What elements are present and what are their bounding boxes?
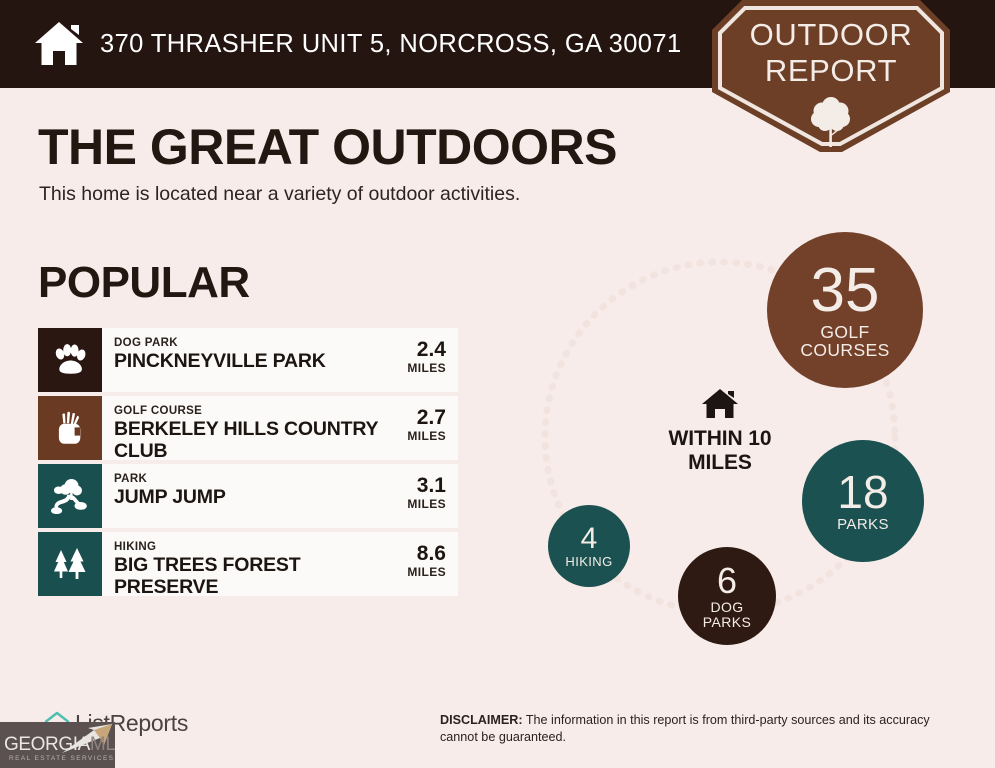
property-address: 370 THRASHER UNIT 5, NORCROSS, GA 30071	[100, 30, 682, 59]
list-item-distance: 2.4 MILES	[396, 328, 458, 392]
distance-value: 3.1	[396, 474, 446, 497]
bubble-value: 35	[811, 260, 880, 322]
list-item[interactable]: PARK JUMP JUMP 3.1 MILES	[38, 464, 458, 528]
watermark-brand: GEORGIAMLS	[4, 734, 115, 756]
bubble-label: PARKS	[837, 517, 889, 532]
within-10-miles-bubble-chart: 35 GOLF COURSES 18 PARKS 6 DOG PARKS 4 H…	[515, 222, 995, 662]
paw-icon	[38, 328, 102, 392]
tree-icon	[808, 97, 854, 147]
list-item-text: DOG PARK PINCKNEYVILLE PARK	[102, 328, 396, 392]
list-item-name: BERKELEY HILLS COUNTRY CLUB	[114, 418, 396, 462]
bubble-parks[interactable]: 18 PARKS	[802, 440, 924, 562]
badge-line-2: REPORT	[712, 53, 950, 89]
distance-unit: MILES	[396, 497, 446, 511]
bubble-label-line-2: PARKS	[703, 615, 751, 629]
list-item-category: DOG PARK	[114, 337, 396, 350]
list-item-text: GOLF COURSE BERKELEY HILLS COUNTRY CLUB	[102, 396, 396, 460]
watermark-tagline: REAL ESTATE SERVICES	[9, 755, 114, 762]
georgiamls-watermark: GEORGIAMLS REAL ESTATE SERVICES	[0, 722, 115, 768]
list-item-distance: 8.6 MILES	[396, 532, 458, 596]
watermark-mls: MLS	[90, 734, 115, 755]
badge-title: OUTDOOR REPORT	[712, 17, 950, 89]
distance-value: 2.7	[396, 406, 446, 429]
pine-trees-icon	[38, 532, 102, 596]
home-icon	[645, 387, 795, 421]
distance-unit: MILES	[396, 361, 446, 375]
list-item[interactable]: HIKING BIG TREES FOREST PRESERVE 8.6 MIL…	[38, 532, 458, 596]
section-heading-popular: POPULAR	[38, 258, 250, 308]
distance-value: 2.4	[396, 338, 446, 361]
bubble-dog-parks[interactable]: 6 DOG PARKS	[678, 547, 776, 645]
page-subtitle: This home is located near a variety of o…	[39, 183, 520, 206]
list-item-category: HIKING	[114, 541, 396, 554]
list-item-text: PARK JUMP JUMP	[102, 464, 396, 528]
golf-bag-icon	[38, 396, 102, 460]
list-item[interactable]: GOLF COURSE BERKELEY HILLS COUNTRY CLUB …	[38, 396, 458, 460]
bubble-value: 6	[717, 563, 737, 599]
park-tree-path-icon	[38, 464, 102, 528]
distance-value: 8.6	[396, 542, 446, 565]
diagram-center-label: WITHIN 10 MILES	[645, 387, 795, 475]
bubble-label-line-1: DOG	[703, 600, 751, 614]
list-item-name: BIG TREES FOREST PRESERVE	[114, 554, 339, 598]
outdoor-report-badge: OUTDOOR REPORT	[712, 0, 950, 152]
disclaimer-label: DISCLAIMER:	[440, 713, 523, 727]
list-item-name: JUMP JUMP	[114, 486, 396, 508]
list-item-name: PINCKNEYVILLE PARK	[114, 350, 396, 372]
home-icon	[32, 17, 86, 71]
disclaimer: DISCLAIMER: The information in this repo…	[440, 712, 970, 745]
bubble-label-line-2: COURSES	[800, 342, 889, 360]
list-item-distance: 3.1 MILES	[396, 464, 458, 528]
bubble-label: GOLF COURSES	[800, 324, 889, 360]
watermark-georgia: GEORGIA	[4, 734, 90, 755]
popular-list: DOG PARK PINCKNEYVILLE PARK 2.4 MILES GO…	[38, 328, 458, 600]
page-title: THE GREAT OUTDOORS	[38, 118, 617, 176]
bubble-label: DOG PARKS	[703, 600, 751, 629]
bubble-label: HIKING	[565, 555, 612, 568]
badge-line-1: OUTDOOR	[712, 17, 950, 53]
list-item-text: HIKING BIG TREES FOREST PRESERVE	[102, 532, 396, 596]
list-item-category: GOLF COURSE	[114, 405, 396, 418]
bubble-hiking[interactable]: 4 HIKING	[548, 505, 630, 587]
within-miles-text: WITHIN 10 MILES	[645, 427, 795, 475]
list-item[interactable]: DOG PARK PINCKNEYVILLE PARK 2.4 MILES	[38, 328, 458, 392]
list-item-distance: 2.7 MILES	[396, 396, 458, 460]
distance-unit: MILES	[396, 565, 446, 579]
distance-unit: MILES	[396, 429, 446, 443]
bubble-value: 4	[581, 524, 598, 554]
bubble-value: 18	[837, 469, 888, 515]
list-item-category: PARK	[114, 473, 396, 486]
bubble-golf-courses[interactable]: 35 GOLF COURSES	[767, 232, 923, 388]
